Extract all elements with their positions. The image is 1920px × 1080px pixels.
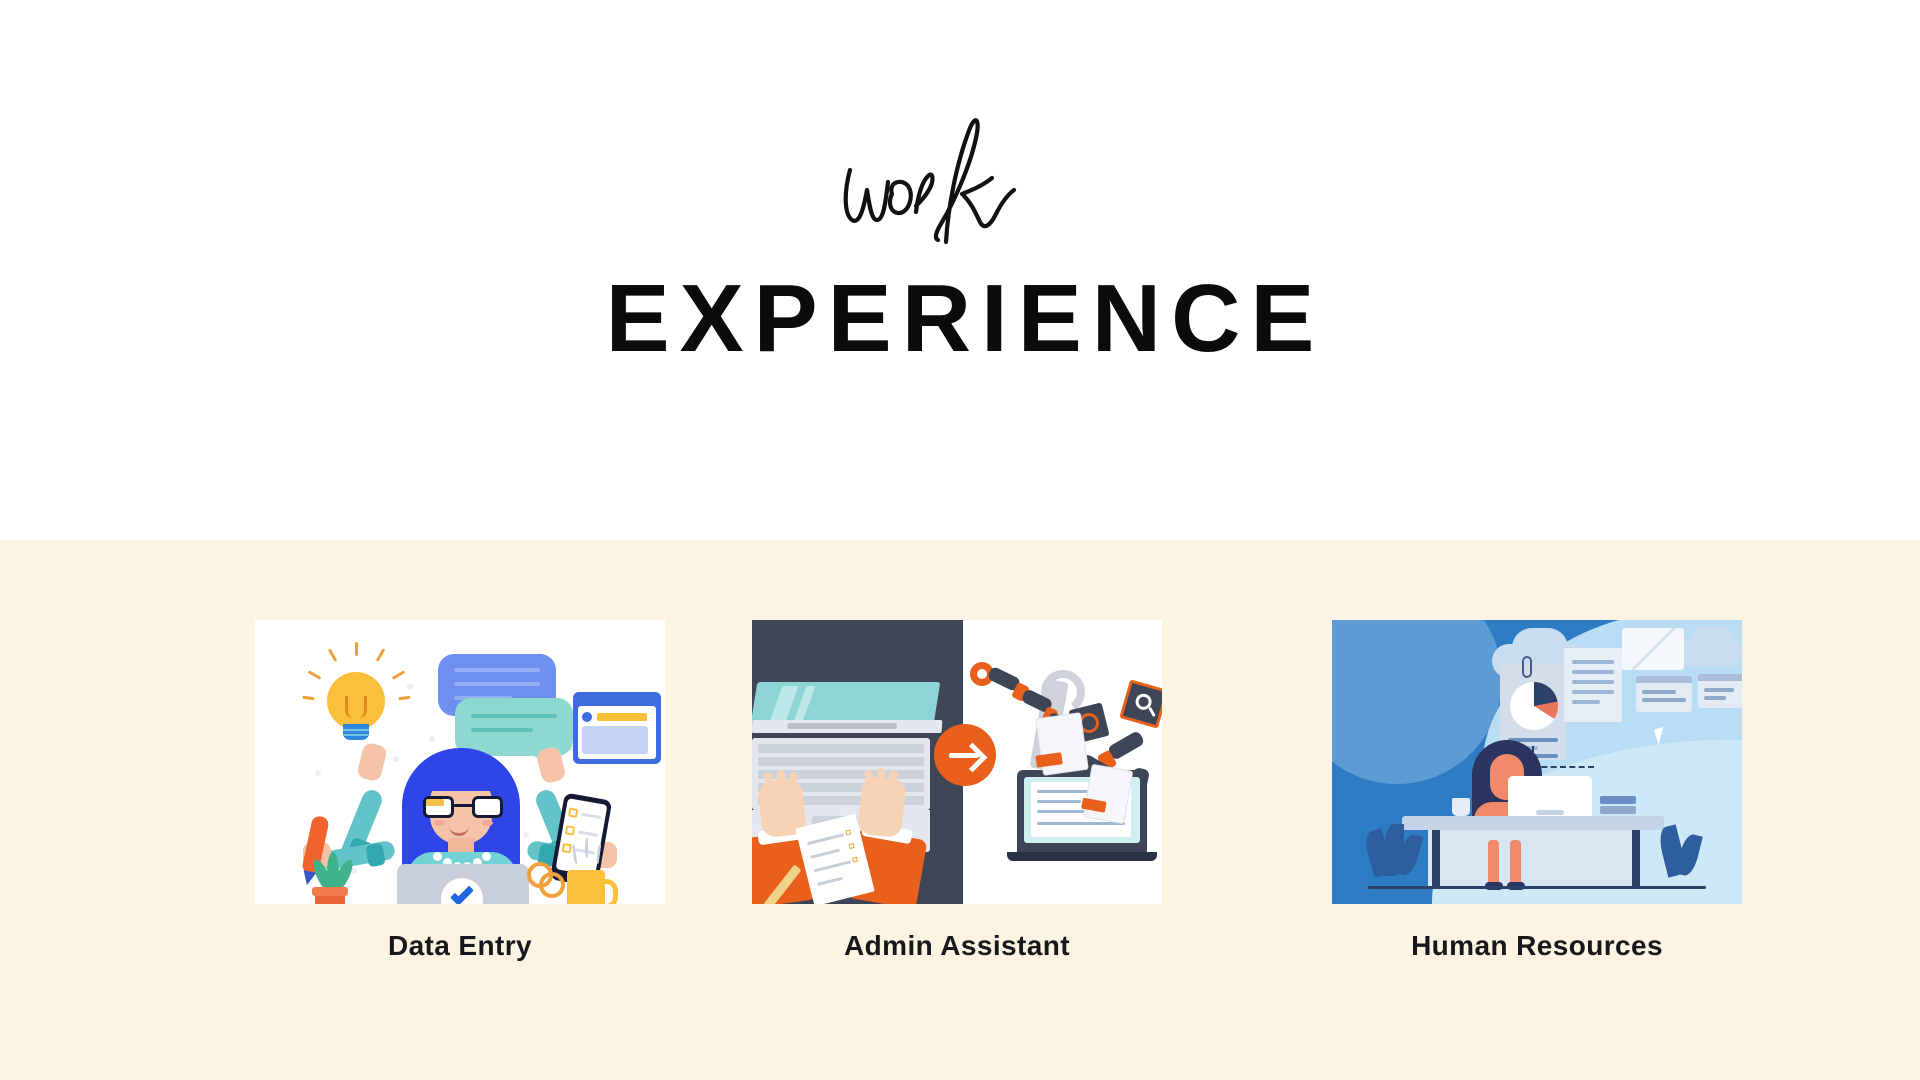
stamp (1081, 798, 1107, 813)
coffee-mug-icon (567, 870, 605, 904)
book-stack (1600, 806, 1636, 814)
card-label-admin-assistant: Admin Assistant (752, 930, 1162, 962)
admin-assistant-illustration (752, 620, 1162, 904)
page-title: EXPERIENCE (0, 271, 1920, 367)
decor-dot (523, 832, 529, 838)
window-titlebar (1636, 676, 1692, 683)
book-stack (1600, 796, 1636, 804)
script-word-work (0, 110, 1920, 265)
cream-section: Data Entry (0, 540, 1920, 1080)
envelope-icon (1622, 628, 1684, 670)
human-resources-illustration (1332, 620, 1742, 904)
checklist-line (581, 813, 601, 819)
pie-chart (1510, 682, 1558, 730)
doc-line (1572, 670, 1614, 674)
window-titlebar (573, 692, 661, 704)
window-line (1704, 688, 1734, 692)
ui-window (1698, 674, 1742, 708)
window-line (1642, 698, 1686, 702)
doc-line (1572, 680, 1614, 684)
window-headline (597, 713, 647, 721)
bubble-line (471, 728, 533, 732)
doc-line (1572, 660, 1614, 664)
lightbulb-ray (302, 696, 314, 701)
desk-top (1402, 816, 1664, 830)
finger (877, 768, 885, 796)
card-label-human-resources: Human Resources (1332, 930, 1742, 962)
mug-icon (1452, 798, 1470, 816)
doc-line (1572, 690, 1614, 694)
key-row (758, 757, 924, 766)
lightbulb-ray (376, 648, 386, 662)
window-line (1642, 690, 1676, 694)
joint-core (977, 669, 987, 679)
glasses-highlight (426, 799, 444, 806)
cheek (434, 820, 445, 826)
lightbulb-filament (345, 696, 367, 718)
doc-line (1572, 700, 1600, 704)
finger (777, 770, 785, 798)
cloud-icon (1690, 626, 1734, 656)
cheek (482, 820, 493, 826)
bangle (539, 872, 565, 898)
text-document (1564, 648, 1622, 722)
window-avatar (582, 712, 592, 722)
lightbulb-base (343, 724, 369, 740)
title-stack: EXPERIENCE (0, 110, 1920, 367)
lens-right (472, 796, 503, 818)
hand (356, 742, 388, 783)
desk-leg (1432, 830, 1440, 888)
checkmark (845, 829, 851, 835)
desk-front (1428, 830, 1638, 888)
paperclip-icon (1522, 656, 1532, 678)
laptop-hinge (787, 723, 897, 729)
checkmark (852, 857, 858, 863)
arrow-right-icon (934, 724, 996, 786)
experience-card-human-resources[interactable]: Human Resources (1332, 620, 1742, 962)
experience-card-admin-assistant[interactable]: Admin Assistant (752, 620, 1162, 962)
cloud-icon (1512, 628, 1568, 668)
lightbulb-ray (308, 670, 322, 680)
browser-window-icon (573, 692, 661, 764)
leg (1488, 840, 1499, 888)
bridge (454, 804, 472, 807)
bubble-line (454, 668, 540, 672)
note-line (810, 849, 840, 859)
experience-card-data-entry[interactable]: Data Entry (255, 620, 665, 962)
doc-line (1037, 800, 1081, 803)
bubble-line (471, 714, 557, 718)
flying-document (1036, 713, 1087, 775)
window-content-pane (582, 726, 648, 754)
window-titlebar (1698, 674, 1742, 681)
doc-line (1037, 822, 1125, 825)
checkmark (849, 843, 855, 849)
decor-dot (315, 770, 321, 776)
plant-pot (315, 892, 345, 904)
lightbulb-ray (328, 648, 338, 662)
checkbox-icon (562, 843, 572, 853)
checklist-line (578, 830, 598, 836)
lightbulb-ray (392, 670, 406, 680)
decor-dot (407, 684, 413, 690)
ground-line (1368, 886, 1706, 889)
checkbox-icon (568, 808, 578, 818)
desk-leg (1632, 830, 1640, 888)
lightbulb-ray (398, 696, 410, 701)
search-handle (1148, 707, 1155, 717)
card-label-data-entry: Data Entry (255, 930, 665, 962)
lightbulb-ray (355, 642, 358, 656)
window-line (1704, 696, 1726, 700)
note-line (814, 860, 852, 872)
stamp (1035, 752, 1062, 768)
checkbox-icon (565, 825, 575, 835)
data-entry-illustration (255, 620, 665, 904)
pearl (433, 852, 442, 861)
experience-cards-row: Data Entry (0, 540, 1920, 1080)
decor-dot (393, 756, 399, 762)
sleeve-cuff (365, 843, 386, 868)
key-row (758, 744, 924, 753)
laptop-base-right (1007, 852, 1157, 861)
ui-window (1636, 676, 1692, 712)
header-band: EXPERIENCE (0, 0, 1920, 540)
pearl (482, 852, 491, 861)
bubble-line (454, 682, 540, 686)
steam (585, 838, 589, 858)
note-line (807, 833, 845, 845)
decor-dot (429, 736, 435, 742)
note-line (817, 877, 843, 886)
leg (1510, 840, 1521, 888)
